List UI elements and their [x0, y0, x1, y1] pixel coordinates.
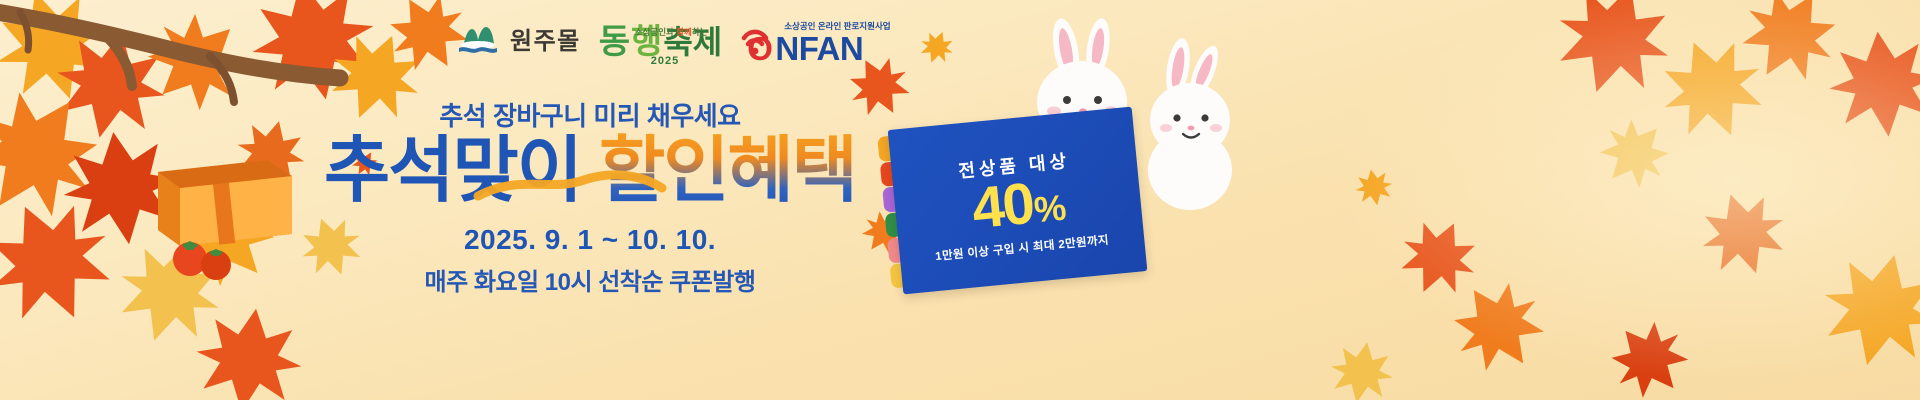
coupon-amount: 40 — [970, 174, 1036, 238]
donghaeng-tagline: 소상공인과 함께하는 — [635, 26, 708, 38]
maple-leaf-decoration — [291, 206, 370, 285]
logo-row: 원주몰 소상공인과 함께하는 동 행 축제 2025 소상공인 온라인 판로지원… — [455, 14, 863, 70]
brush-swoosh-decoration — [310, 134, 870, 220]
title-part-orange: 할인혜택 — [581, 131, 856, 211]
donghaeng-char-dong: 동 — [599, 28, 630, 57]
mountain-wave-icon — [455, 23, 501, 62]
rabbit-back — [1148, 37, 1232, 210]
coupon-discount-value: 40% — [970, 171, 1067, 238]
promotional-banner: 원주몰 소상공인과 함께하는 동 행 축제 2025 소상공인 온라인 판로지원… — [0, 0, 1920, 400]
coupon-percent-symbol: % — [1033, 189, 1066, 228]
maple-leaf-decoration — [915, 25, 959, 69]
maple-leaf-decoration — [347, 145, 383, 181]
onfan-tagline: 소상공인 온라인 판로지원사업 — [784, 20, 890, 32]
maple-leaf-decoration — [188, 298, 310, 400]
tagline-highlight: 함께 — [676, 27, 692, 37]
tagline-part-2: 하는 — [692, 27, 708, 37]
onfan-logo[interactable]: 소상공인 온라인 판로지원사업 O NFAN — [740, 21, 863, 64]
tree-branch-left — [0, 0, 400, 125]
wonju-mall-label: 원주몰 — [510, 30, 581, 54]
discount-coupon[interactable]: 전상품 대상 40% 1만원 이상 구입 시 최대 2만원까지 — [888, 107, 1148, 295]
donghaeng-year: 2025 — [651, 55, 679, 67]
background-glow — [1300, 0, 1920, 400]
persimmon-fruit-illustration — [168, 225, 240, 290]
tagline-part-1: 소상공인과 — [635, 27, 676, 37]
coupon-content: 전상품 대상 40% 1만원 이상 구입 시 최대 2만원까지 — [888, 107, 1148, 295]
donghaeng-festival-logo[interactable]: 소상공인과 함께하는 동 행 축제 2025 — [599, 28, 722, 57]
onfan-label: NFAN — [775, 35, 863, 63]
onfan-letter-o: O — [747, 35, 772, 63]
wonju-mall-logo[interactable]: 원주몰 — [455, 23, 581, 62]
